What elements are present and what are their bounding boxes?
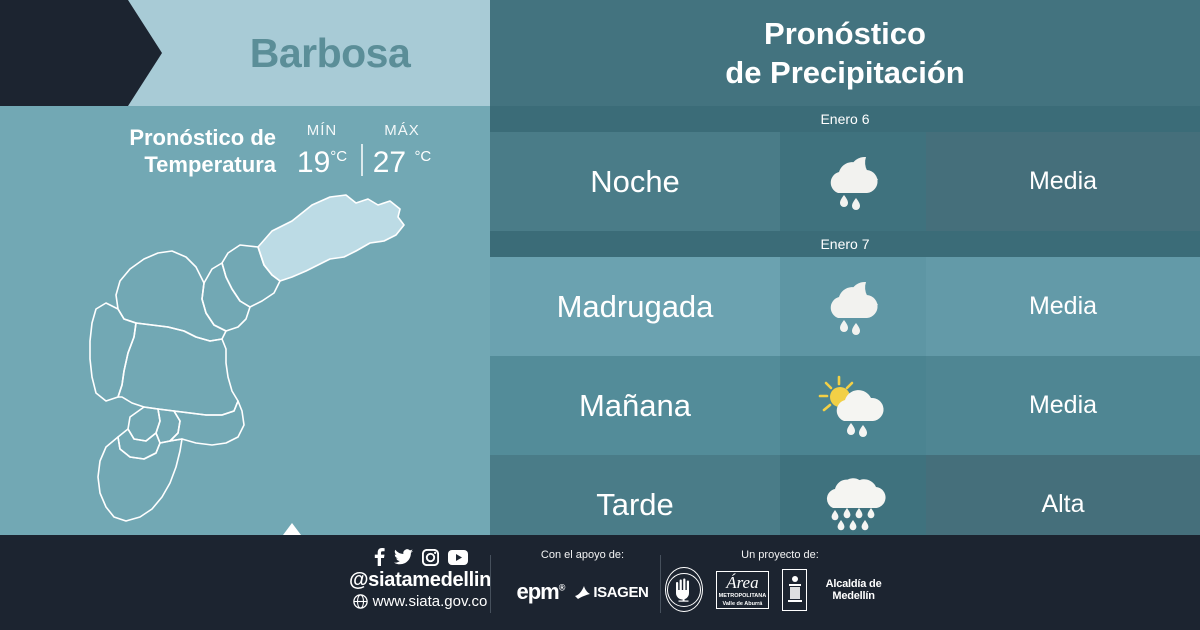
epm-logo-text: epm [516, 579, 558, 604]
forecast-panel: Pronóstico de Precipitación Enero 6 Noch… [490, 0, 1200, 535]
unal-hand-icon [673, 578, 695, 602]
date-band-enero-6: Enero 6 [490, 106, 1200, 132]
twitter-icon[interactable] [394, 549, 413, 565]
support-logos: epm® ISAGEN [500, 579, 665, 605]
forecast-title: Pronóstico de Precipitación [490, 14, 1200, 92]
website-url[interactable]: www.siata.gov.co [373, 593, 488, 610]
isagen-logo-text: ISAGEN [593, 584, 648, 601]
globe-icon [353, 594, 368, 609]
cloud-heavy-rain-icon [815, 472, 891, 538]
alcaldia-logo: Alcaldía de Medellín [782, 569, 895, 611]
temperature-max-value: 27 °C [365, 140, 439, 180]
project-caption: Un proyecto de: [665, 549, 895, 561]
epm-logo: epm® [516, 579, 564, 605]
moon-cloud-rain-icon [818, 276, 888, 338]
temperature-min-value: 19°C [285, 140, 359, 180]
forecast-row-madrugada[interactable]: Madrugada Media [490, 257, 1200, 356]
temperature-values: MÍN 19°C MÁX 27 °C [285, 122, 439, 180]
temperature-title: Pronóstico de Temperatura [88, 124, 276, 178]
forecast-rows: Enero 6 Noche Media Enero 7 Madru [490, 106, 1200, 554]
unal-logo [665, 567, 703, 612]
footer: @siatamedellin www.siata.gov.co Con el a… [0, 535, 1200, 630]
area-metropolitana-logo: Área METROPOLITANA Valle de Aburrá [716, 571, 770, 609]
date-band-enero-7: Enero 7 [490, 231, 1200, 257]
sun-cloud-rain-icon [816, 375, 890, 437]
brand-pennant [0, 0, 162, 106]
temperature-min-unit: °C [330, 148, 347, 165]
aburra-valley-map: N [0, 185, 490, 535]
project-logos: Área METROPOLITANA Valle de Aburrá [665, 567, 895, 612]
alcaldia-logo-text: Alcaldía de Medellín [812, 578, 895, 602]
map-svg [0, 185, 490, 535]
temperature-max-unit: °C [414, 148, 431, 165]
map-region-caldas [98, 437, 182, 521]
temperature-title-line2: Temperatura [88, 151, 276, 178]
support-caption: Con el apoyo de: [500, 549, 665, 561]
footer-divider-2 [660, 555, 661, 613]
isagen-mark-icon [574, 585, 591, 600]
infographic-canvas: SIATA Barbosa Pronóstico de Temperatura … [0, 0, 1200, 630]
forecast-period-noche: Noche [490, 132, 780, 231]
unal-seal-inner [667, 573, 701, 607]
area-logo-sub1: METROPOLITANA [719, 593, 767, 599]
alcaldia-crest-icon [782, 569, 807, 611]
isagen-logo: ISAGEN [574, 584, 648, 601]
forecast-row-noche[interactable]: Noche Media [490, 132, 1200, 231]
facebook-icon[interactable] [373, 548, 385, 566]
map-region-barbosa [258, 195, 404, 281]
forecast-title-line1: Pronóstico [490, 14, 1200, 53]
city-name: Barbosa [170, 0, 490, 106]
forecast-value-madrugada: Media [926, 257, 1200, 356]
footer-divider-1 [490, 555, 491, 613]
area-logo-sub2: Valle de Aburrá [719, 601, 767, 607]
weather-icon-manana [780, 356, 926, 455]
temperature-min-number: 19 [297, 146, 330, 179]
temperature-min: MÍN 19°C [285, 122, 359, 180]
left-panel: SIATA Barbosa Pronóstico de Temperatura … [0, 0, 490, 535]
temperature-max-number: 27 [373, 146, 406, 179]
area-logo-box: Área METROPOLITANA Valle de Aburrá [716, 571, 770, 609]
weather-icon-madrugada [780, 257, 926, 356]
temperature-max-label: MÁX [365, 122, 439, 139]
temperature-title-line1: Pronóstico de [88, 124, 276, 151]
forecast-value-noche: Media [926, 132, 1200, 231]
project-block: Un proyecto de: [665, 549, 895, 612]
temperature-min-label: MÍN [285, 122, 359, 139]
forecast-value-manana: Media [926, 356, 1200, 455]
temperature-divider [361, 144, 363, 176]
moon-cloud-rain-icon [818, 151, 888, 213]
alcaldia-emblem-icon [785, 574, 805, 606]
weather-icon-noche [780, 132, 926, 231]
forecast-period-manana: Mañana [490, 356, 780, 455]
support-block: Con el apoyo de: epm® ISAGEN [500, 549, 665, 605]
map-region-copacabana [202, 263, 250, 331]
instagram-icon[interactable] [422, 549, 439, 566]
map-region-medellin [118, 323, 238, 415]
forecast-row-manana[interactable]: Mañana [490, 356, 1200, 455]
youtube-icon[interactable] [448, 550, 468, 565]
temperature-block: Pronóstico de Temperatura MÍN 19°C MÁX 2… [0, 106, 490, 192]
forecast-title-line2: de Precipitación [490, 53, 1200, 92]
forecast-period-madrugada: Madrugada [490, 257, 780, 356]
temperature-max: MÁX 27 °C [365, 122, 439, 180]
area-logo-name: Área [719, 575, 767, 591]
